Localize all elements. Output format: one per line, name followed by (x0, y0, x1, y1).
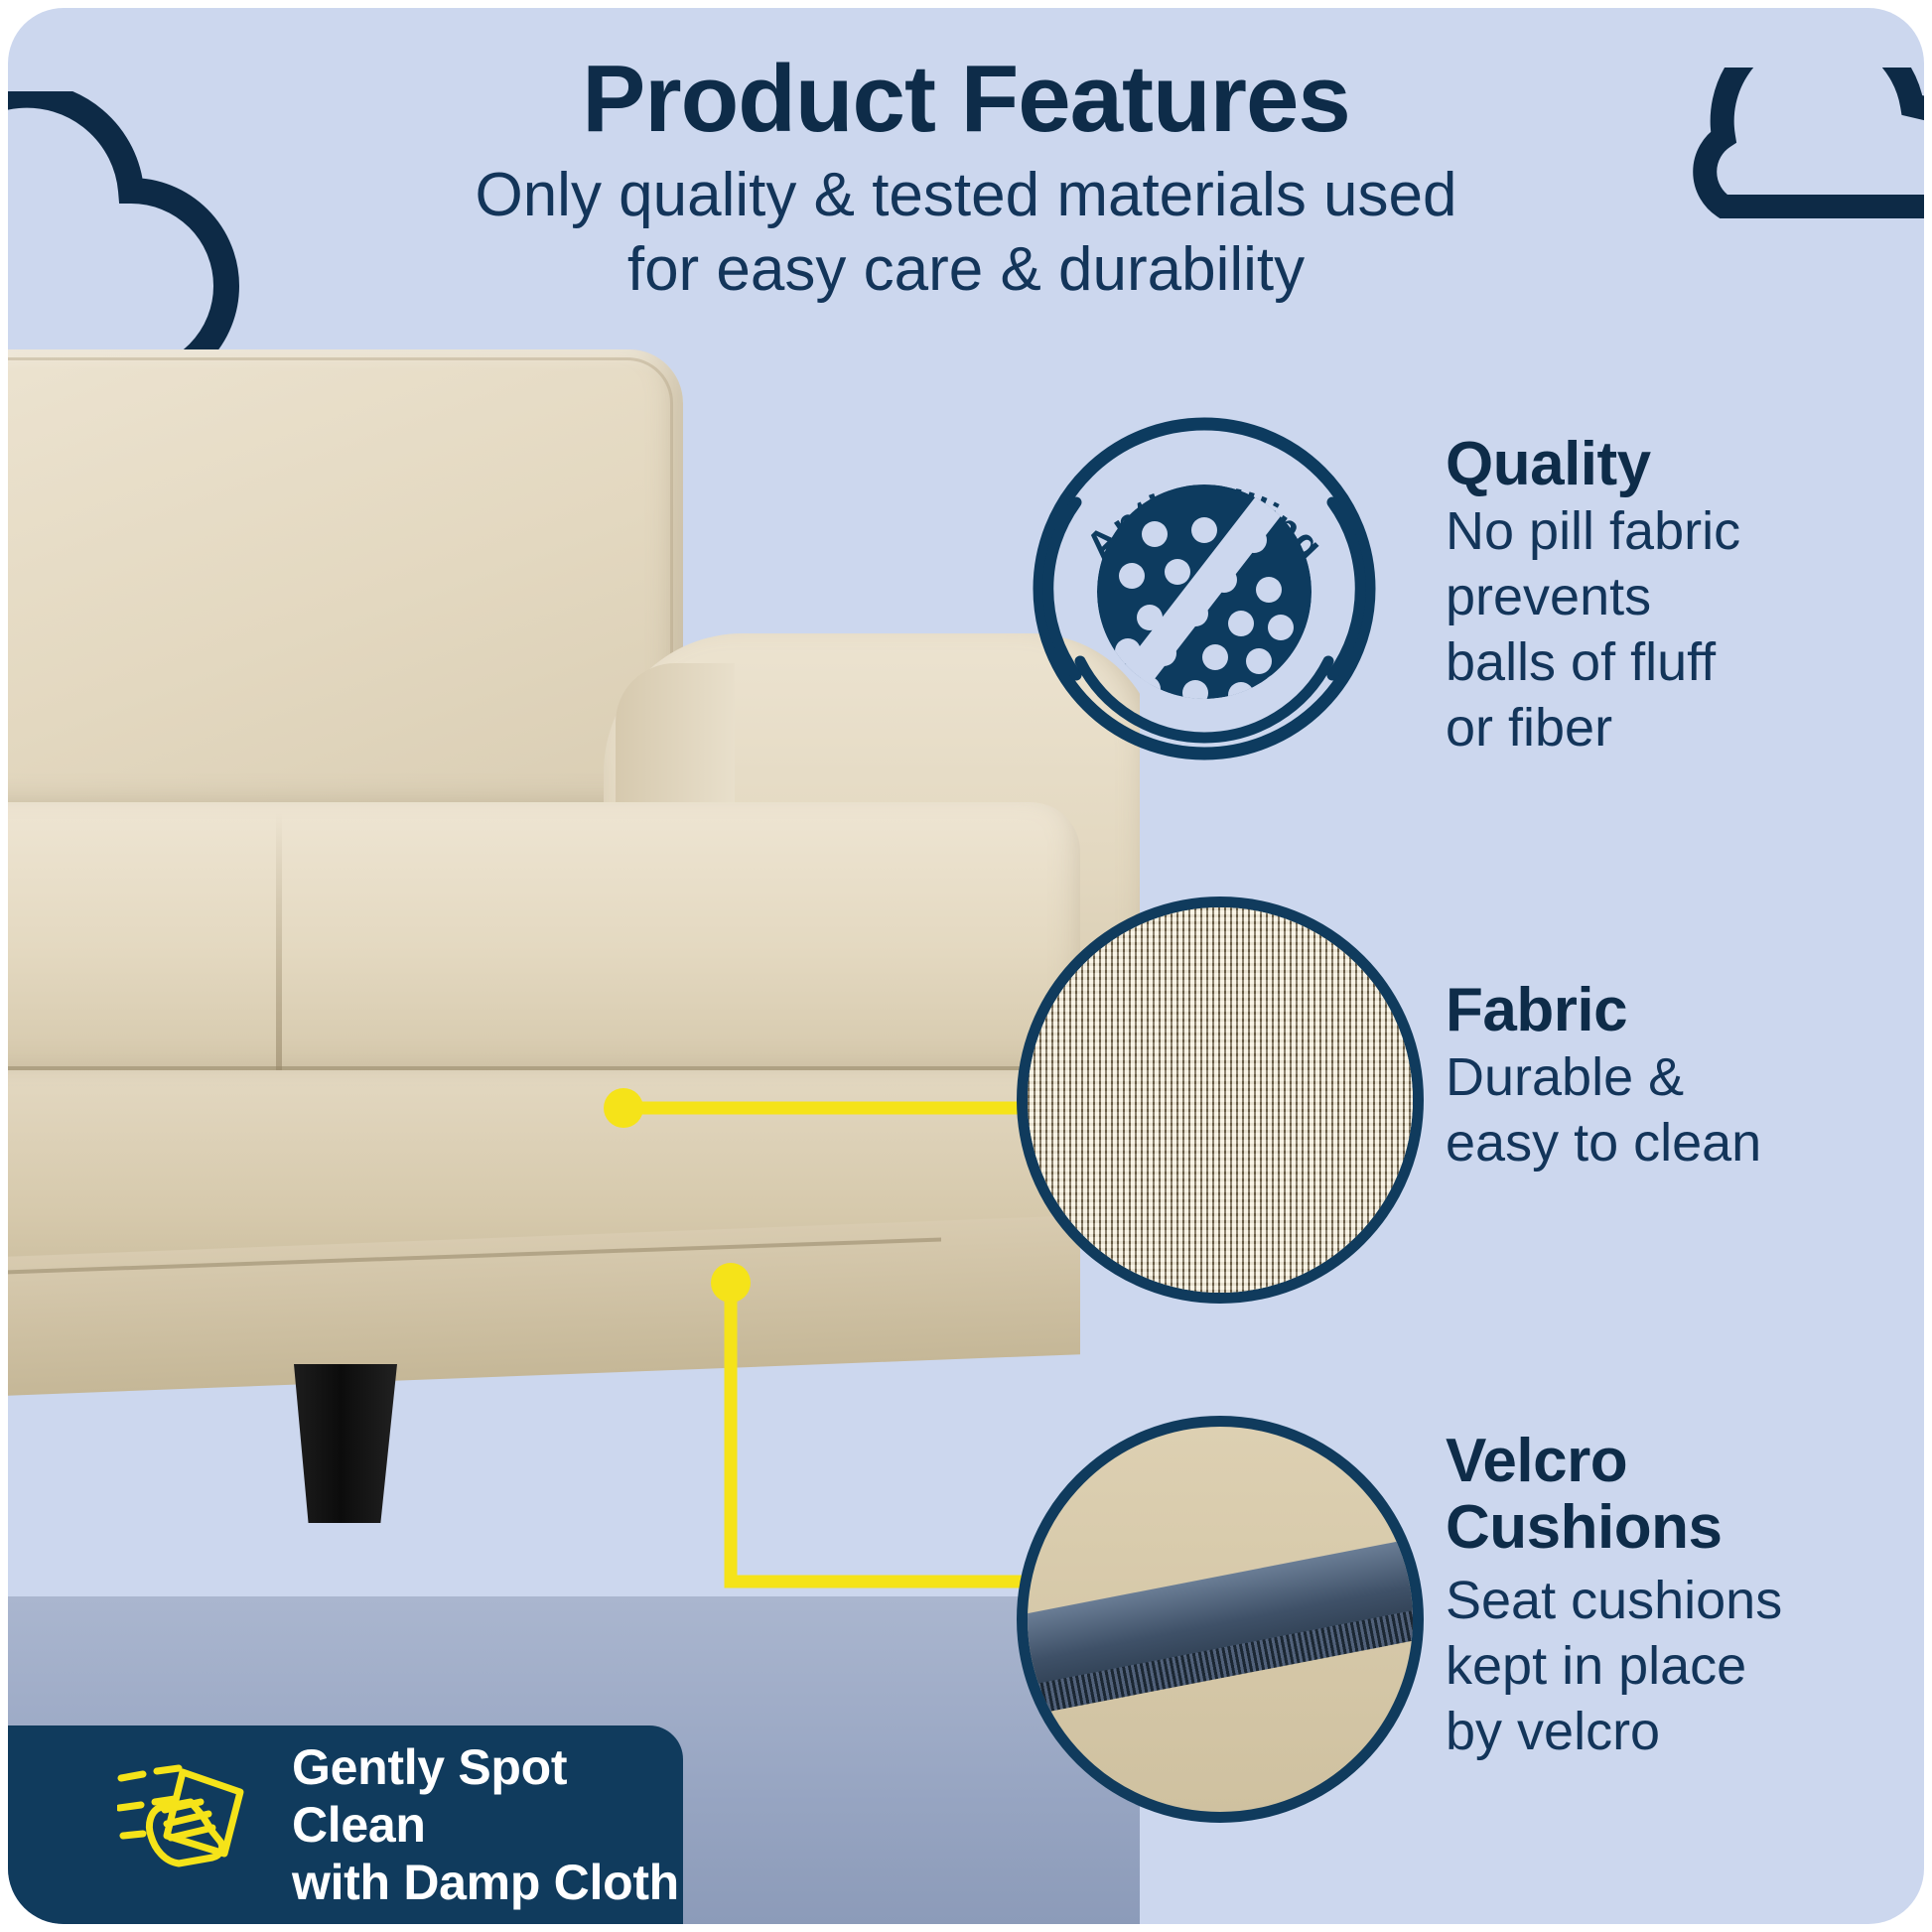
anti-pilling-seal-icon: Anti - Pilling (1021, 405, 1388, 772)
seat-cushion-seam (276, 812, 282, 1080)
feature-body-line: Seat cushions (1446, 1569, 1912, 1634)
product-features-card: Product Features Only quality & tested m… (8, 8, 1924, 1924)
feature-body-line: kept in place (1446, 1634, 1912, 1700)
header: Product Features Only quality & tested m… (8, 50, 1924, 308)
subtitle-line-1: Only quality & tested materials used (8, 158, 1924, 233)
velcro-strip-closeup-icon (1017, 1416, 1424, 1823)
feature-body-line: or fiber (1446, 696, 1912, 761)
feature-heading-line-2: Cushions (1446, 1496, 1912, 1559)
sofa-back-cushion (8, 349, 683, 816)
sofa-seat-cushion (8, 802, 1080, 1090)
sofa-leg (294, 1364, 397, 1523)
feature-body-line: balls of fluff (1446, 630, 1912, 696)
feature-quality: Quality No pill fabric prevents balls of… (1446, 433, 1912, 761)
fabric-weave-closeup-icon (1017, 897, 1424, 1304)
hand-wiping-cloth-icon (117, 1758, 266, 1892)
sofa-seam (8, 1066, 1080, 1070)
subtitle-line-2: for easy care & durability (8, 232, 1924, 308)
feature-velcro-cushions: Velcro Cushions Seat cushions kept in pl… (1446, 1430, 1912, 1765)
feature-heading-line-1: Velcro (1446, 1430, 1912, 1492)
feature-body-line: easy to clean (1446, 1111, 1912, 1176)
feature-heading: Fabric (1446, 979, 1912, 1041)
feature-body-line: by velcro (1446, 1700, 1912, 1765)
fabric-weave-texture (1028, 907, 1413, 1293)
feature-fabric: Fabric Durable & easy to clean (1446, 979, 1912, 1176)
care-instruction-badge: Gently Spot Clean with Damp Cloth (8, 1725, 683, 1924)
subtitle: Only quality & tested materials used for… (8, 158, 1924, 308)
feature-body-line: No pill fabric (1446, 499, 1912, 565)
feature-heading: Quality (1446, 433, 1912, 495)
page-title: Product Features (8, 50, 1924, 150)
feature-body-line: prevents (1446, 565, 1912, 630)
care-instruction-text: Gently Spot Clean with Damp Cloth (292, 1738, 683, 1911)
care-line-1: Gently Spot Clean (292, 1738, 683, 1854)
feature-body-line: Durable & (1446, 1045, 1912, 1111)
care-line-2: with Damp Cloth (292, 1854, 683, 1911)
product-photo (8, 336, 1140, 1924)
